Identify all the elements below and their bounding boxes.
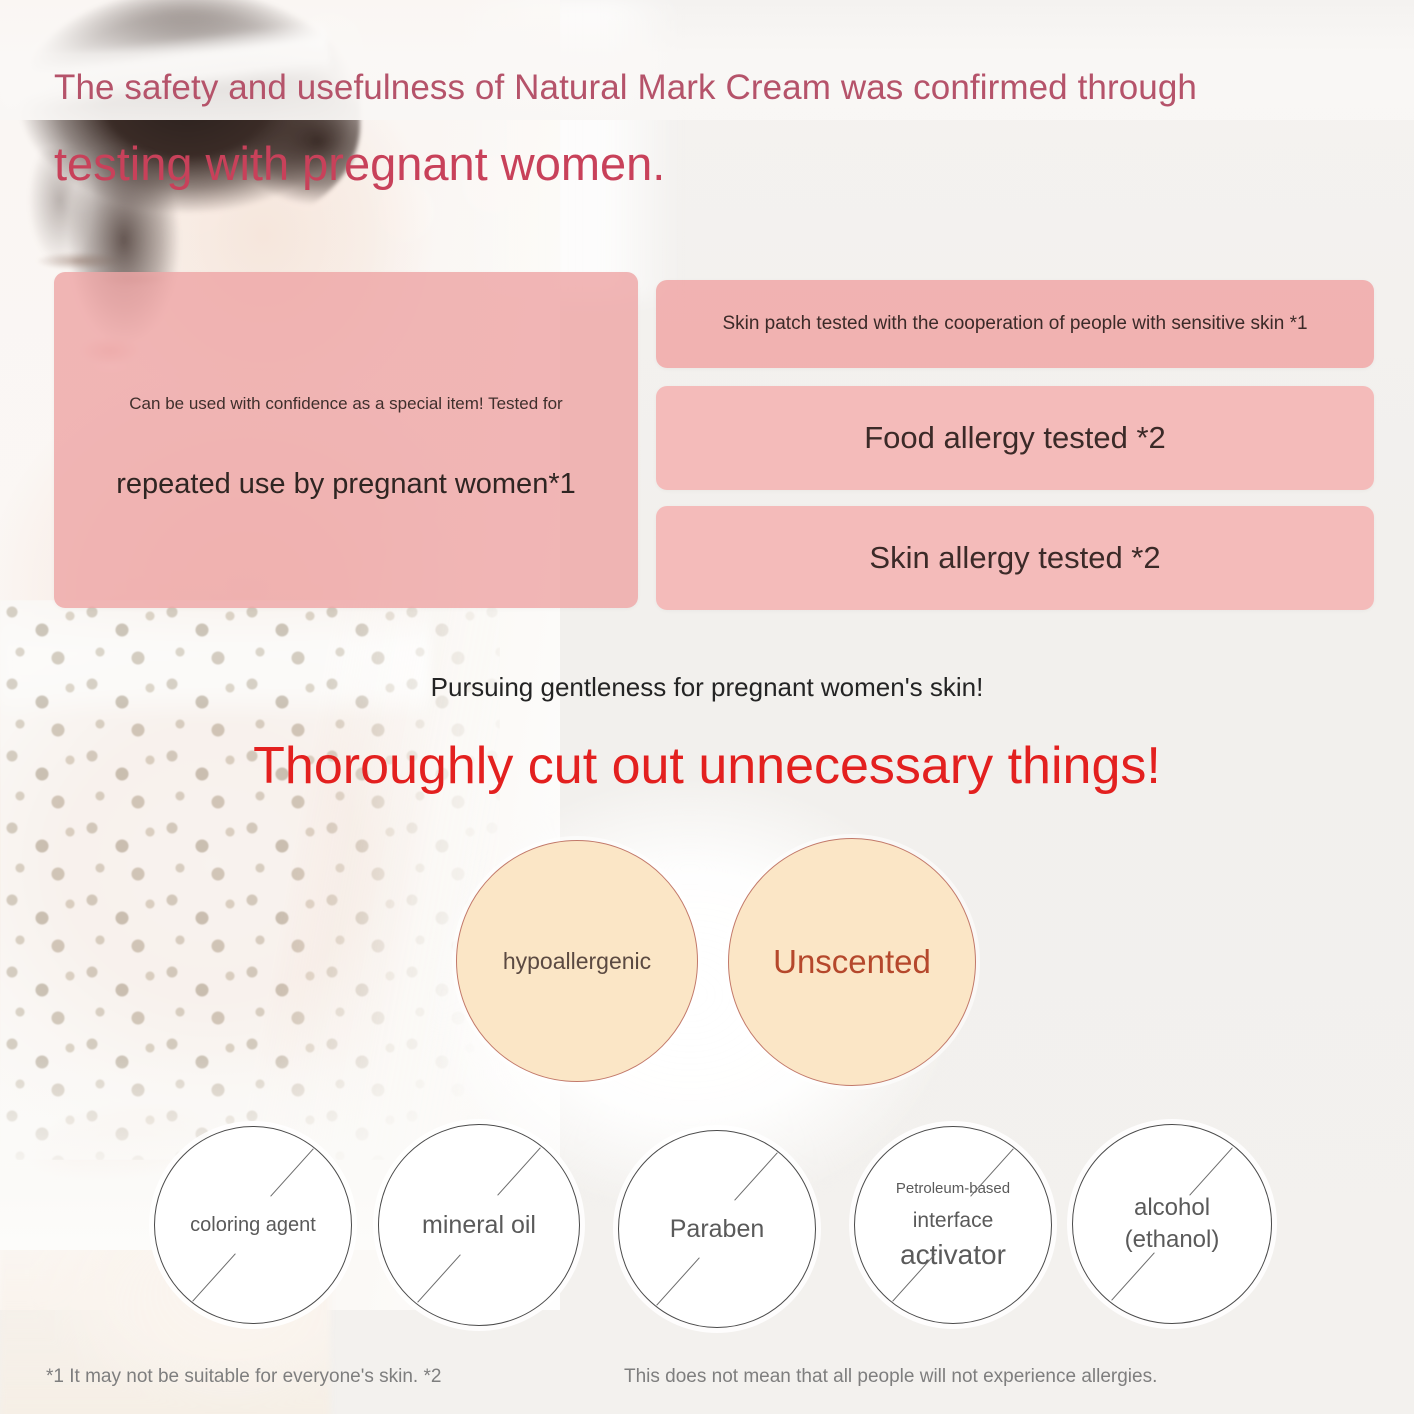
poster-content: The safety and usefulness of Natural Mar… xyxy=(0,0,1414,1414)
excluded-label: coloring agent xyxy=(190,1214,316,1237)
excluded-circle-alcohol-ethanol: alcohol (ethanol) xyxy=(1072,1124,1272,1324)
tested-for-repeated-use-panel: Can be used with confidence as a special… xyxy=(54,272,638,608)
excluded-label: Paraben xyxy=(670,1215,765,1244)
claim-bar-label: Skin patch tested with the cooperation o… xyxy=(722,313,1307,335)
badge-label: hypoallergenic xyxy=(503,948,651,975)
excluded-circle-petroleum-surfactant: Petroleum-based interface activator xyxy=(854,1126,1052,1324)
excluded-circle-paraben: Paraben xyxy=(618,1130,816,1328)
excluded-label-line-2: interface xyxy=(913,1209,994,1233)
excluded-circle-coloring-agent: coloring agent xyxy=(154,1126,352,1324)
excluded-label-line-1: alcohol xyxy=(1134,1192,1210,1224)
badge-unscented: Unscented xyxy=(728,838,976,1086)
excluded-label-line-3: activator xyxy=(900,1239,1006,1271)
product-info-poster: The safety and usefulness of Natural Mar… xyxy=(0,0,1414,1414)
excluded-label-line-1: Petroleum-based xyxy=(896,1180,1010,1197)
panel-big-text: repeated use by pregnant women*1 xyxy=(54,468,638,501)
headline-line-2: testing with pregnant women. xyxy=(54,132,1284,195)
claim-bar-skin-patch-tested: Skin patch tested with the cooperation o… xyxy=(656,280,1374,368)
claim-bar-skin-allergy-tested: Skin allergy tested *2 xyxy=(656,506,1374,610)
badge-hypoallergenic: hypoallergenic xyxy=(456,840,698,1082)
headline: The safety and usefulness of Natural Mar… xyxy=(54,66,1284,195)
mid-title: Thoroughly cut out unnecessary things! xyxy=(0,736,1414,796)
footnote-right: This does not mean that all people will … xyxy=(624,1366,1157,1388)
excluded-label-line-2: (ethanol) xyxy=(1125,1224,1220,1256)
headline-line-1: The safety and usefulness of Natural Mar… xyxy=(54,66,1284,110)
excluded-circle-mineral-oil: mineral oil xyxy=(378,1124,580,1326)
excluded-label: mineral oil xyxy=(422,1211,536,1240)
panel-small-text: Can be used with confidence as a special… xyxy=(54,394,638,414)
badge-label: Unscented xyxy=(773,943,931,981)
footnote-left: *1 It may not be suitable for everyone's… xyxy=(46,1366,441,1388)
claim-bar-label: Food allergy tested *2 xyxy=(864,420,1166,456)
claim-bar-label: Skin allergy tested *2 xyxy=(869,540,1160,576)
mid-subtitle: Pursuing gentleness for pregnant women's… xyxy=(0,672,1414,703)
claim-bar-food-allergy-tested: Food allergy tested *2 xyxy=(656,386,1374,490)
